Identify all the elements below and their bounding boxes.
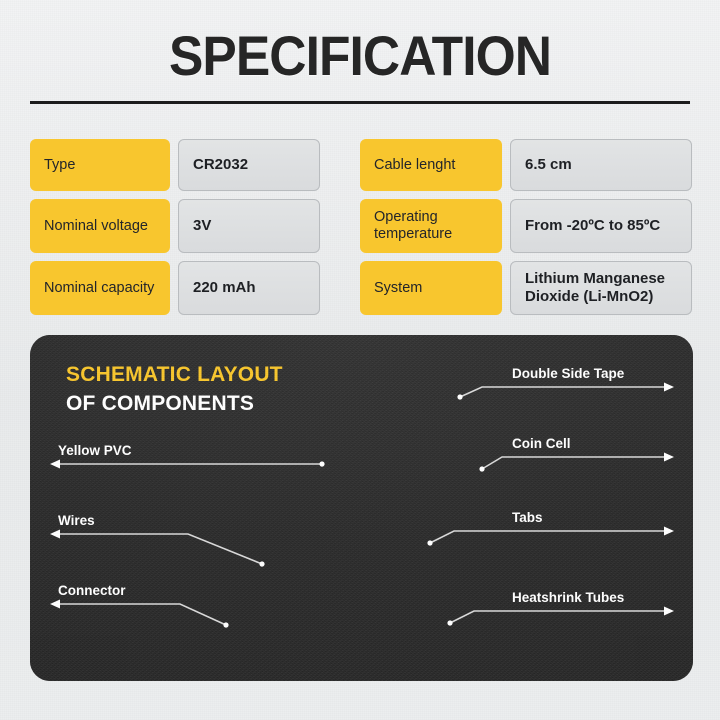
header-divider [30,101,690,104]
spec-value: From -20ºC to 85ºC [510,199,692,253]
spec-row: Nominal voltage 3V Operating temperature… [30,199,692,253]
spec-label: Type [30,139,170,191]
page-title: SPECIFICATION [29,26,691,86]
spec-label: Nominal capacity [30,261,170,315]
schematic-heading: SCHEMATIC LAYOUT OF COMPONENTS [66,363,283,416]
callout-label-coin-cell: Coin Cell [512,436,571,451]
specification-table: Type CR2032 Cable lenght 6.5 cm Nominal … [30,139,692,323]
spec-cell-group-left: Type CR2032 [30,139,360,191]
schematic-panel: SCHEMATIC LAYOUT OF COMPONENTS [30,335,693,681]
spec-cell-group-right: Cable lenght 6.5 cm [360,139,692,191]
spec-row: Nominal capacity 220 mAh System Lithium … [30,261,692,315]
spec-cell-group-left: Nominal capacity 220 mAh [30,261,360,315]
spec-row: Type CR2032 Cable lenght 6.5 cm [30,139,692,191]
callout-label-tabs: Tabs [512,510,543,525]
callout-label-wires: Wires [58,513,95,528]
spec-value: CR2032 [178,139,320,191]
spec-value: 3V [178,199,320,253]
callout-label-yellow-pvc: Yellow PVC [58,443,132,458]
spec-value: Lithium Manganese Dioxide (Li-MnO2) [510,261,692,315]
spec-label: Cable lenght [360,139,502,191]
spec-label: Operating temperature [360,199,502,253]
spec-value: 220 mAh [178,261,320,315]
callout-label-double-side-tape: Double Side Tape [512,366,624,381]
spec-label: Nominal voltage [30,199,170,253]
callout-label-connector: Connector [58,583,126,598]
spec-cell-group-right: Operating temperature From -20ºC to 85ºC [360,199,692,253]
schematic-heading-line2: OF COMPONENTS [66,392,283,416]
schematic-heading-line1: SCHEMATIC LAYOUT [66,363,283,387]
spec-cell-group-right: System Lithium Manganese Dioxide (Li-MnO… [360,261,692,315]
spec-label: System [360,261,502,315]
callout-label-heatshrink-tubes: Heatshrink Tubes [512,590,624,605]
spec-value: 6.5 cm [510,139,692,191]
spec-cell-group-left: Nominal voltage 3V [30,199,360,253]
